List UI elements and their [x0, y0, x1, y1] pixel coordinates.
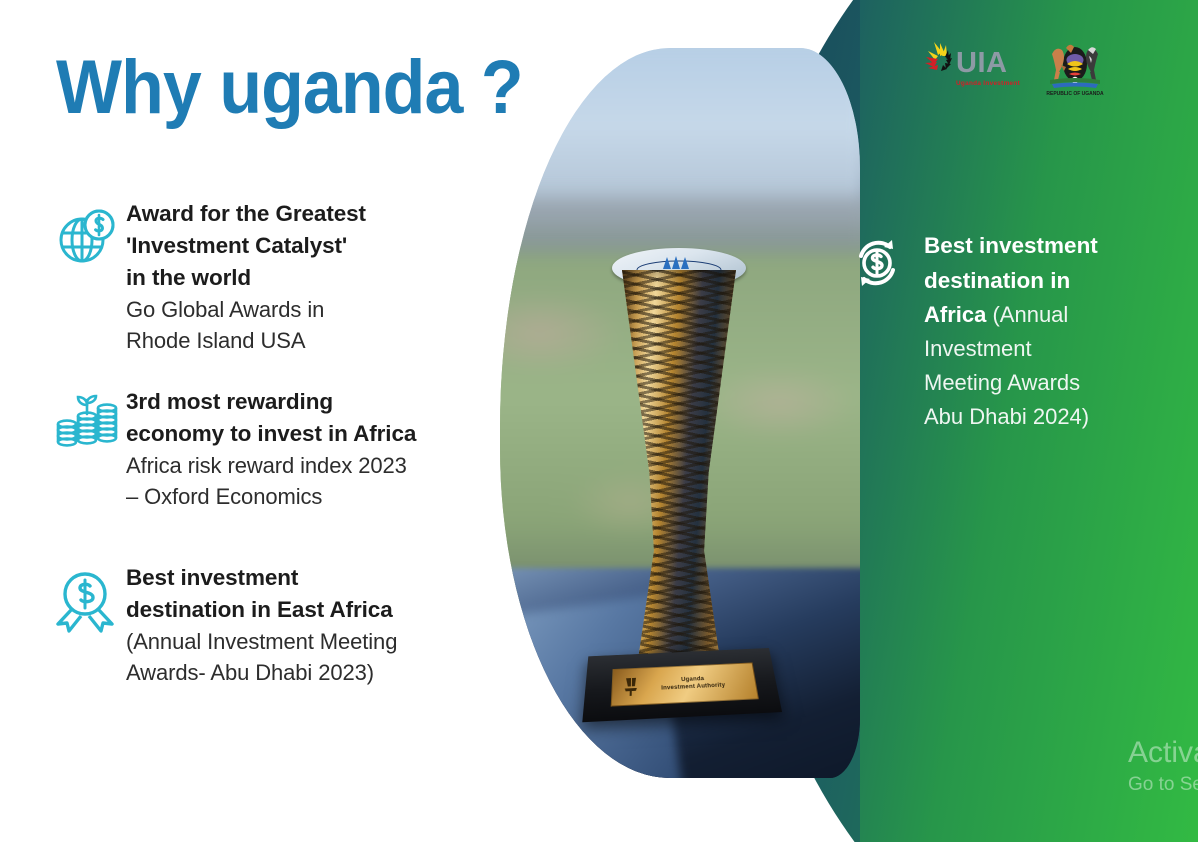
- trophy-body: [622, 270, 736, 660]
- bullet-subtext: Rhode Island USA: [126, 325, 366, 356]
- photo-sky: [500, 48, 860, 223]
- right-headline: Best investment: [924, 228, 1098, 263]
- coin-stacks-growth-icon: [48, 384, 126, 454]
- list-item: Award for the Greatest 'Investment Catal…: [48, 196, 518, 356]
- bullet-subtext: – Oxford Economics: [126, 481, 416, 512]
- plaque-line2: Investment Authority: [643, 682, 726, 694]
- right-headline: destination in: [924, 263, 1098, 298]
- trophy-object: AIM Uganda Investment Authority: [604, 248, 754, 678]
- uia-logo: UIA Uganda Investment Authority: [918, 38, 1022, 96]
- award-badge-dollar-icon: [48, 560, 126, 636]
- trophy-base: Uganda Investment Authority: [582, 648, 782, 722]
- svg-text:REPUBLIC OF UGANDA: REPUBLIC OF UGANDA: [1046, 91, 1104, 97]
- right-subtext: Investment: [924, 332, 1098, 366]
- page-title: Why uganda ?: [56, 46, 523, 130]
- svg-text:UIA: UIA: [956, 47, 1007, 79]
- svg-text:Uganda Investment Authority: Uganda Investment Authority: [956, 80, 1022, 87]
- bullet-subtext: Awards- Abu Dhabi 2023): [126, 657, 397, 688]
- circular-arrows-dollar-icon: [848, 228, 912, 297]
- logo-group: UIA Uganda Investment Authority: [918, 36, 1106, 98]
- uia-logo-icon: UIA Uganda Investment Authority: [918, 38, 1022, 96]
- bullet-list: Award for the Greatest 'Investment Catal…: [48, 196, 518, 712]
- bullet-headline: 'Investment Catalyst': [126, 230, 366, 262]
- right-panel-text: Best investment destination in Africa (A…: [912, 228, 1098, 434]
- watermark-title: Activate Windows: [1128, 734, 1198, 772]
- right-subtext: Abu Dhabi 2024): [924, 400, 1098, 434]
- windows-activation-watermark: Activate Windows Go to Settings to activ…: [1128, 734, 1198, 798]
- list-item: 3rd most rewarding economy to invest in …: [48, 384, 518, 512]
- bullet-subtext: Africa risk reward index 2023: [126, 450, 416, 481]
- trophy-photo: AIM Uganda Investment Authority: [500, 48, 860, 778]
- coat-of-arms-icon: REPUBLIC OF UGANDA: [1044, 36, 1106, 98]
- bullet-headline: destination in East Africa: [126, 594, 397, 626]
- right-panel-bullet: Best investment destination in Africa (A…: [848, 228, 1178, 434]
- trophy-plaque: Uganda Investment Authority: [611, 662, 759, 706]
- bullet-headline: Best investment: [126, 562, 397, 594]
- bullet-headline: Award for the Greatest: [126, 198, 366, 230]
- right-headline-mixed: Africa (Annual: [924, 298, 1098, 332]
- list-item: Best investment destination in East Afri…: [48, 560, 518, 688]
- plaque-emblem-icon: [622, 676, 639, 697]
- bullet-text: Best investment destination in East Afri…: [126, 560, 397, 688]
- right-headline-strong: Africa: [924, 302, 986, 327]
- bullet-text: Award for the Greatest 'Investment Catal…: [126, 196, 366, 356]
- bullet-subtext: (Annual Investment Meeting: [126, 626, 397, 657]
- right-subtext: Meeting Awards: [924, 366, 1098, 400]
- uganda-coat-of-arms-logo: REPUBLIC OF UGANDA: [1044, 36, 1106, 98]
- bullet-headline: 3rd most rewarding: [126, 386, 416, 418]
- bullet-text: 3rd most rewarding economy to invest in …: [126, 384, 416, 512]
- bullet-headline: economy to invest in Africa: [126, 418, 416, 450]
- bullet-subtext: Go Global Awards in: [126, 294, 366, 325]
- slide-canvas: AIM Uganda Investment Authority Why u: [0, 0, 1198, 842]
- bullet-headline: in the world: [126, 262, 366, 294]
- watermark-subtitle: Go to Settings to activate Windows: [1128, 772, 1198, 798]
- right-headline-rest: (Annual: [986, 302, 1068, 327]
- globe-dollar-icon: [48, 196, 126, 268]
